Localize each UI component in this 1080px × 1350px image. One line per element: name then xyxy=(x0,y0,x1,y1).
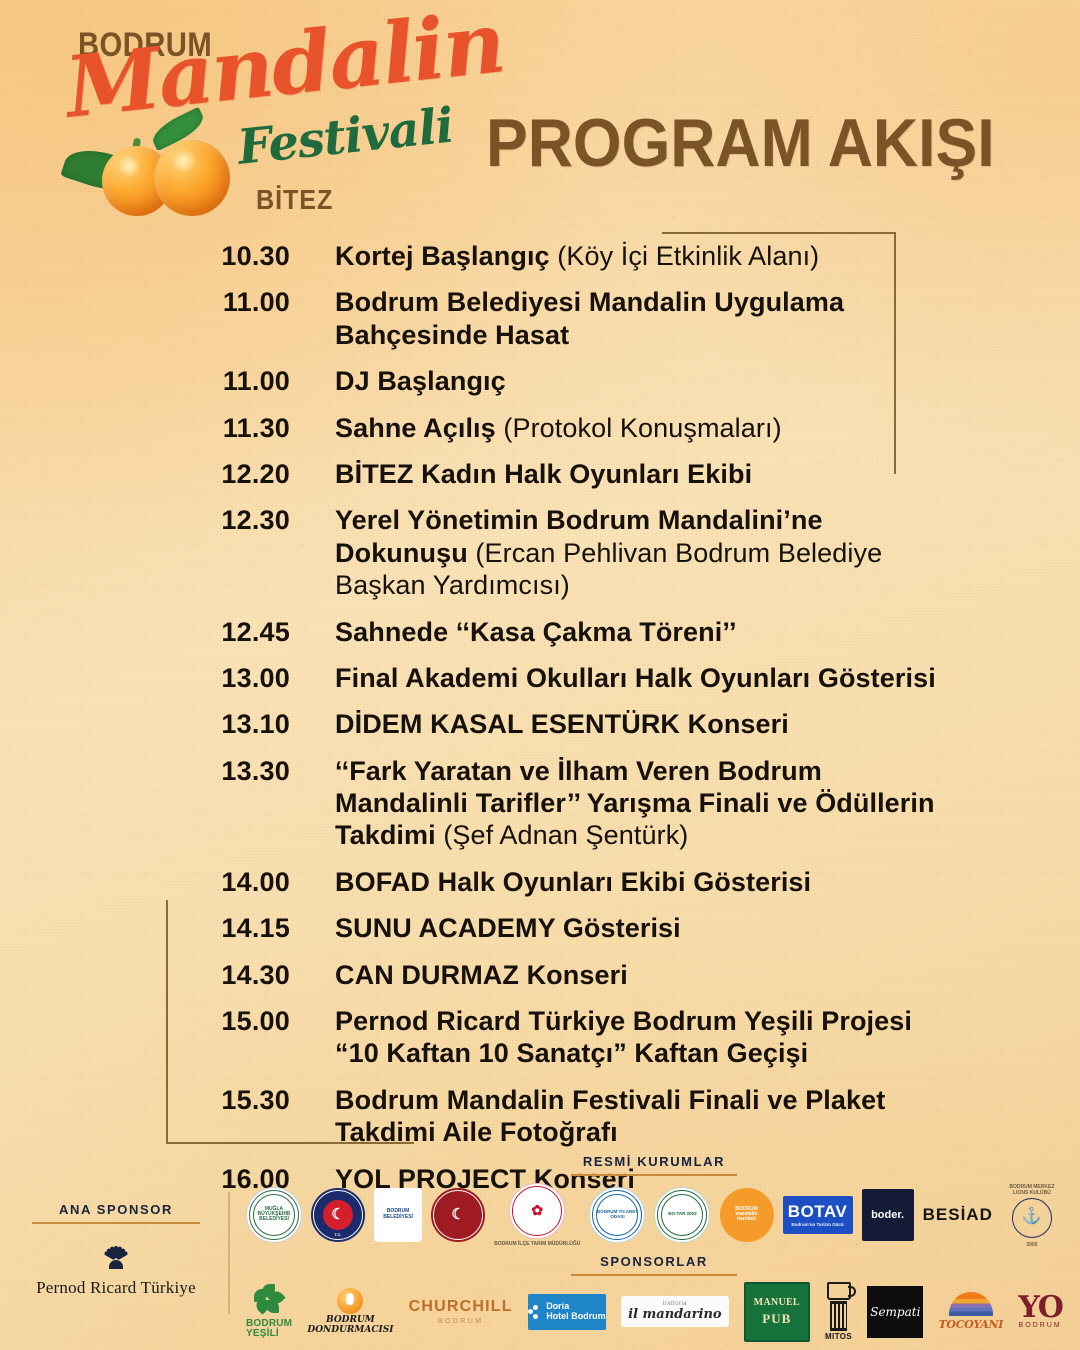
program-description: CAN DURMAZ Konseri xyxy=(335,959,628,991)
festival-program-poster: BODRUM Mandalin Festivali BİTEZ PROGRAM … xyxy=(0,0,1080,1350)
logo-yo-bodrum: YO BODRUM xyxy=(1018,1294,1062,1329)
program-time: 13.00 xyxy=(0,662,290,693)
program-row: 14.00BOFAD Halk Oyunları Ekibi Gösterisi xyxy=(0,866,1080,898)
divider xyxy=(571,1274,737,1276)
program-time: 14.30 xyxy=(0,959,290,990)
program-title: Sahnede ‘‘Kasa Çakma Töreni’’ xyxy=(335,617,737,647)
program-detail: (Şef Adnan Şentürk) xyxy=(436,820,689,850)
sunburst-icon xyxy=(98,1246,134,1272)
dots-icon xyxy=(528,1305,542,1319)
program-time: 12.30 xyxy=(0,504,290,535)
program-title: DJ Başlangıç xyxy=(335,366,506,396)
program-row: 13.10DİDEM KASAL ESENTÜRK Konseri xyxy=(0,708,1080,740)
program-title: SUNU ACADEMY Gösterisi xyxy=(335,913,681,943)
program-title: Bodrum Belediyesi Mandalin Uygulama Bahç… xyxy=(335,287,844,349)
sponsors-block: SPONSORLAR BODRUM YEŞİLİ xyxy=(240,1254,1068,1342)
sponsors-label: SPONSORLAR xyxy=(539,1254,769,1269)
divider xyxy=(571,1174,737,1176)
program-row: 13.30‘‘Fark Yaratan ve İlham Veren Bodru… xyxy=(0,755,1080,852)
official-logo-row: MUĞLA BÜYÜKŞEHİR BELEDİYESİ ☾ T.C. BODRU… xyxy=(240,1182,1068,1248)
program-time: 11.30 xyxy=(0,412,290,443)
program-row: 11.30Sahne Açılış (Protokol Konuşmaları) xyxy=(0,412,1080,444)
main-sponsor-block: ANA SPONSOR Pernod Ricard Türkiye xyxy=(18,1202,214,1298)
poster-header: BODRUM Mandalin Festivali BİTEZ PROGRAM … xyxy=(0,0,1080,222)
program-time: 13.10 xyxy=(0,708,290,739)
logo-besiad: BESİAD xyxy=(923,1205,993,1225)
crescent-star-icon: ☾ xyxy=(445,1207,470,1223)
logo-bodrum-belediyesi: BODRUM BELEDİYESİ xyxy=(374,1188,422,1242)
logo-mugla-buyuksehir: MUĞLA BÜYÜKŞEHİR BELEDİYESİ xyxy=(246,1187,302,1243)
logo-tc-bodrum-kaymakamlik: ☾ T.C. xyxy=(311,1188,365,1242)
program-description: Sahnede ‘‘Kasa Çakma Töreni’’ xyxy=(335,616,737,648)
program-row: 14.15SUNU ACADEMY Gösterisi xyxy=(0,912,1080,944)
program-description: Final Akademi Okulları Halk Oyunları Gös… xyxy=(335,662,936,694)
program-title: Sahne Açılış xyxy=(335,413,496,443)
sponsors-heading: SPONSORLAR xyxy=(539,1254,769,1276)
logo-bodrum-lions-kulubu: BODRUM MERKEZ LIONS KULÜBÜ ⚓ 2005 xyxy=(1002,1182,1062,1248)
logo-bodrum-mandalin-hareketi: BODRUM mandalin hareketi xyxy=(720,1188,774,1242)
program-title: Bodrum Mandalin Festivali Finali ve Plak… xyxy=(335,1085,885,1147)
program-time: 11.00 xyxy=(0,365,290,396)
official-heading: RESMİ KURUMLAR xyxy=(539,1154,769,1176)
divider xyxy=(32,1222,200,1224)
program-time: 15.00 xyxy=(0,1005,290,1036)
column-icon xyxy=(830,1301,847,1331)
logo-line-bitez: BİTEZ xyxy=(256,184,333,216)
program-row: 11.00DJ Başlangıç xyxy=(0,365,1080,397)
program-row: 11.00Bodrum Belediyesi Mandalin Uygulama… xyxy=(0,286,1080,351)
program-row: 12.30Yerel Yönetimin Bodrum Mandalini’ne… xyxy=(0,504,1080,601)
program-title: DİDEM KASAL ESENTÜRK Konseri xyxy=(335,709,789,739)
program-row: 15.00Pernod Ricard Türkiye Bodrum Yeşili… xyxy=(0,1005,1080,1070)
logo-doria-hotel-bodrum: Doria Hotel Bodrum xyxy=(528,1294,606,1330)
logo-churchill-bodrum: CHURCHILL BODRUM xyxy=(409,1298,513,1325)
program-description: DİDEM KASAL ESENTÜRK Konseri xyxy=(335,708,789,740)
beer-mug-icon xyxy=(827,1282,851,1300)
page-title: PROGRAM AKIŞI xyxy=(486,104,995,182)
program-description: Bodrum Belediyesi Mandalin Uygulama Bahç… xyxy=(335,286,955,351)
program-time: 13.30 xyxy=(0,755,290,786)
highlight xyxy=(170,150,198,172)
main-sponsor-label: ANA SPONSOR xyxy=(18,1202,214,1217)
highlight xyxy=(116,156,142,176)
program-row: 15.30Bodrum Mandalin Festivali Finali ve… xyxy=(0,1084,1080,1149)
program-time: 12.20 xyxy=(0,458,290,489)
program-row: 10.30Kortej Başlangıç (Köy İçi Etkinlik … xyxy=(0,240,1080,272)
sponsor-logo-row: BODRUM YEŞİLİ BODRUM DONDURMACISI CHURCH… xyxy=(240,1282,1068,1342)
program-schedule-list: 10.30Kortej Başlangıç (Köy İçi Etkinlik … xyxy=(0,240,1080,1209)
logo-manuel-pub: MANUEL PUB xyxy=(744,1282,810,1342)
program-description: Pernod Ricard Türkiye Bodrum Yeşili Proj… xyxy=(335,1005,955,1070)
logo-mitos: MITOS xyxy=(825,1282,852,1341)
program-time: 15.30 xyxy=(0,1084,290,1115)
program-time: 11.00 xyxy=(0,286,290,317)
program-title: Kortej Başlangıç xyxy=(335,241,550,271)
program-title: Pernod Ricard Türkiye Bodrum Yeşili Proj… xyxy=(335,1006,912,1068)
logo-bodrum-dondurmacisi: BODRUM DONDURMACISI xyxy=(307,1288,393,1335)
program-description: ‘‘Fark Yaratan ve İlham Veren Bodrum Man… xyxy=(335,755,955,852)
logo-bodrum-tarimsal-kalkinma: BO-TAR 2003 xyxy=(654,1187,710,1243)
program-description: Kortej Başlangıç (Köy İçi Etkinlik Alanı… xyxy=(335,240,819,272)
program-row: 13.00Final Akademi Okulları Halk Oyunlar… xyxy=(0,662,1080,694)
logo-bodrum-ticaret-odasi: BODRUM TİCARET ODASI xyxy=(589,1187,645,1243)
program-description: Yerel Yönetimin Bodrum Mandalini’ne Doku… xyxy=(335,504,955,601)
program-title: BOFAD Halk Oyunları Ekibi Gösterisi xyxy=(335,867,811,897)
official-label: RESMİ KURUMLAR xyxy=(539,1154,769,1169)
ice-cream-icon xyxy=(337,1288,363,1314)
program-description: DJ Başlangıç xyxy=(335,365,506,397)
program-time: 14.00 xyxy=(0,866,290,897)
logo-tarim-orman-bakanligi: ✿ BODRUM İLÇE TARIM MÜDÜRLÜĞÜ xyxy=(494,1183,580,1247)
logo-botav: BOTAV Bodrum'un Turizm Gücü xyxy=(783,1196,853,1234)
program-row: 14.30CAN DURMAZ Konseri xyxy=(0,959,1080,991)
program-time: 14.15 xyxy=(0,912,290,943)
program-description: Sahne Açılış (Protokol Konuşmaları) xyxy=(335,412,782,444)
program-time: 12.45 xyxy=(0,616,290,647)
festival-logo: BODRUM Mandalin Festivali BİTEZ xyxy=(58,16,458,216)
program-detail: (Köy İçi Etkinlik Alanı) xyxy=(550,241,820,271)
logo-bodrum-kaymakamligi: ☾ xyxy=(431,1188,485,1242)
program-row: 12.20BİTEZ Kadın Halk Oyunları Ekibi xyxy=(0,458,1080,490)
logo-sempati: Sempati xyxy=(867,1286,923,1338)
main-sponsor-name: Pernod Ricard Türkiye xyxy=(18,1278,214,1298)
program-description: Bodrum Mandalin Festivali Finali ve Plak… xyxy=(335,1084,955,1149)
vertical-divider xyxy=(228,1192,230,1314)
program-description: BİTEZ Kadın Halk Oyunları Ekibi xyxy=(335,458,752,490)
program-time: 10.30 xyxy=(0,240,290,271)
program-description: BOFAD Halk Oyunları Ekibi Gösterisi xyxy=(335,866,811,898)
crescent-star-icon: ☾ xyxy=(323,1200,353,1230)
poster-footer: ANA SPONSOR Pernod Ricard Türkiye RESMİ … xyxy=(0,1150,1080,1350)
logo-il-mandarino: trattoria il mandarino xyxy=(621,1296,728,1327)
pernod-ricard-logo: Pernod Ricard Türkiye xyxy=(18,1246,214,1298)
leaf-cluster-icon xyxy=(254,1284,284,1314)
sunset-icon xyxy=(949,1292,993,1316)
logo-boder: boder. xyxy=(862,1189,914,1241)
program-title: Final Akademi Okulları Halk Oyunları Gös… xyxy=(335,663,936,693)
official-institutions-block: RESMİ KURUMLAR MUĞLA BÜYÜKŞEHİR BELEDİYE… xyxy=(240,1154,1068,1248)
program-row: 12.45Sahnede ‘‘Kasa Çakma Töreni’’ xyxy=(0,616,1080,648)
logo-bodrum-yesili: BODRUM YEŞİLİ xyxy=(246,1284,292,1340)
program-title: CAN DURMAZ Konseri xyxy=(335,960,628,990)
logo-tocoyani: TOCOYANI xyxy=(939,1292,1004,1331)
program-description: SUNU ACADEMY Gösterisi xyxy=(335,912,681,944)
program-detail: (Protokol Konuşmaları) xyxy=(496,413,782,443)
program-title: BİTEZ Kadın Halk Oyunları Ekibi xyxy=(335,459,752,489)
